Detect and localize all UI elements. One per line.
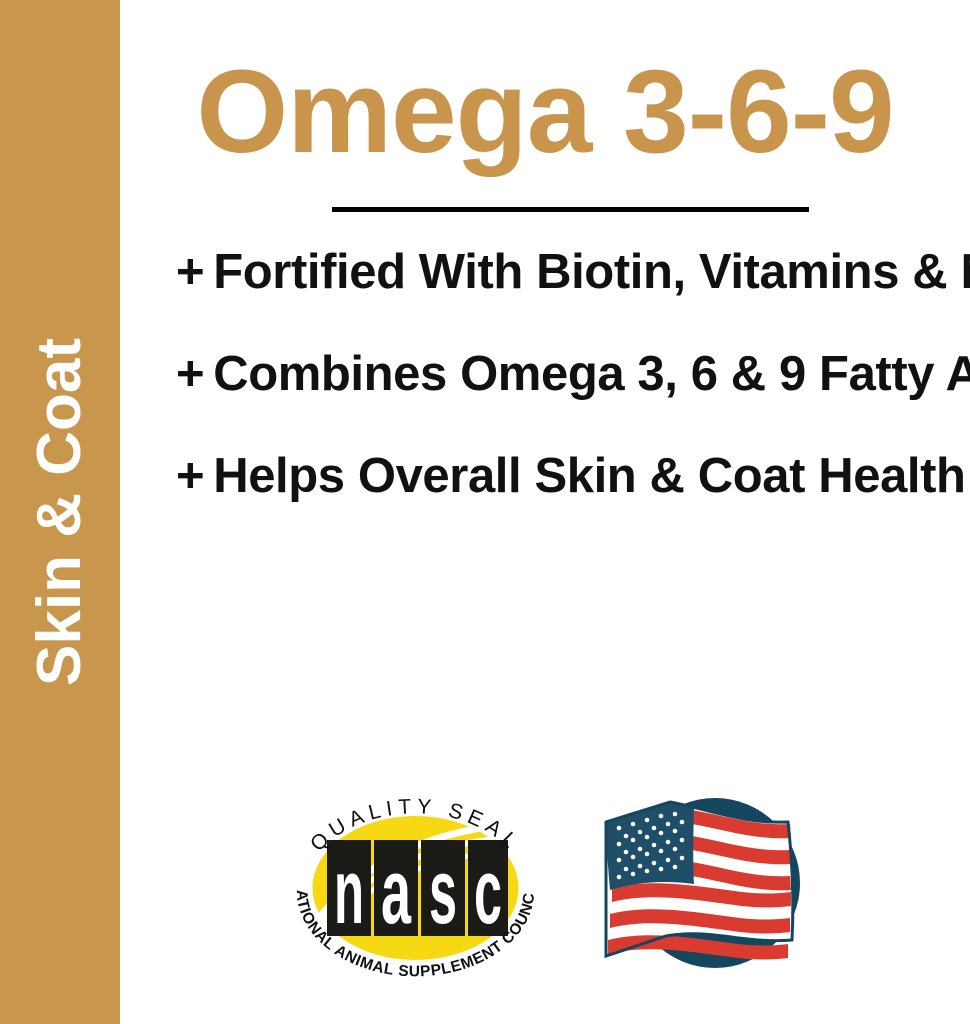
benefit-text: Combines Omega 3, 6 & 9 Fatty Acids	[213, 350, 970, 399]
svg-text:n: n	[334, 841, 364, 943]
nasc-quality-seal-icon: n a s c QUALITY SEAL NATIONAL ANIMAL SUP…	[283, 788, 548, 983]
product-label-panel: Skin & Coat Omega 3-6-9 + Fortified With…	[0, 0, 970, 1024]
usa-flag-icon	[592, 780, 832, 990]
benefit-item: + Fortified With Biotin, Vitamins & Mine…	[176, 248, 970, 297]
label-content: Omega 3-6-9 + Fortified With Biotin, Vit…	[120, 0, 970, 1024]
svg-text:s: s	[429, 841, 457, 943]
category-sidebar: Skin & Coat	[0, 0, 120, 1024]
product-title: Omega 3-6-9	[120, 52, 970, 172]
plus-icon: +	[176, 248, 204, 297]
benefit-text: Fortified With Biotin, Vitamins & Minera…	[213, 248, 970, 297]
badges-row: n a s c QUALITY SEAL NATIONAL ANIMAL SUP…	[120, 778, 970, 993]
benefit-text: Helps Overall Skin & Coat Health	[213, 452, 965, 501]
svg-text:a: a	[381, 841, 411, 943]
benefit-item: + Helps Overall Skin & Coat Health	[176, 452, 970, 501]
nasc-wordmark: n a s c	[327, 840, 508, 943]
category-label: Skin & Coat	[29, 338, 91, 686]
benefits-list: + Fortified With Biotin, Vitamins & Mine…	[176, 248, 970, 501]
plus-icon: +	[176, 350, 204, 399]
svg-text:c: c	[474, 841, 502, 943]
plus-icon: +	[176, 452, 204, 501]
title-divider	[332, 207, 809, 212]
benefit-item: + Combines Omega 3, 6 & 9 Fatty Acids	[176, 350, 970, 399]
